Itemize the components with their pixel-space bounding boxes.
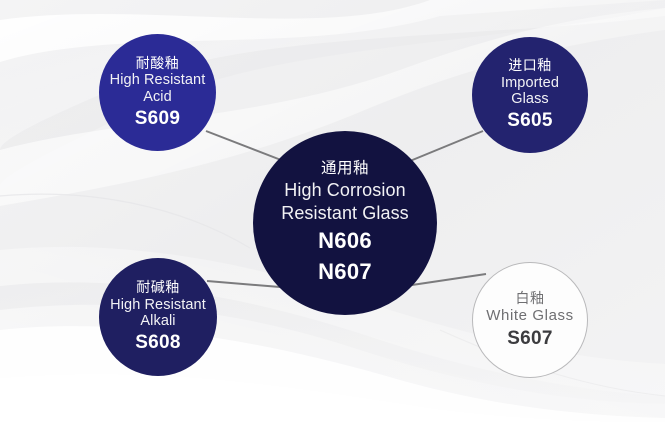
connector-center-to-acid bbox=[206, 131, 281, 160]
node-chinese-label: 耐碱釉 bbox=[136, 280, 180, 296]
node-chinese-label: 通用釉 bbox=[321, 160, 369, 177]
node-imported-glass[interactable]: 进口釉 Imported Glass S605 bbox=[472, 37, 588, 153]
connector-center-to-imported bbox=[410, 131, 483, 161]
node-english-line2: Alkali bbox=[140, 313, 175, 329]
node-chinese-label: 耐酸釉 bbox=[136, 56, 180, 72]
node-english-line2: Glass bbox=[511, 91, 549, 107]
diagram-canvas: 通用釉 High Corrosion Resistant Glass N606 … bbox=[0, 0, 665, 422]
node-chinese-label: 白釉 bbox=[516, 291, 545, 307]
node-english-line1: White Glass bbox=[486, 308, 573, 325]
node-code-line1: N606 bbox=[318, 228, 372, 255]
node-high-corrosion-resistant-glass[interactable]: 通用釉 High Corrosion Resistant Glass N606 … bbox=[253, 131, 437, 315]
node-english-line2: Resistant Glass bbox=[281, 202, 409, 225]
node-code: S605 bbox=[507, 110, 553, 131]
node-english-line1: High Resistant bbox=[110, 297, 206, 313]
connector-center-to-alkali bbox=[207, 281, 280, 287]
node-white-glass[interactable]: 白釉 White Glass S607 bbox=[472, 262, 588, 378]
connector-center-to-white bbox=[412, 274, 486, 285]
node-english-line1: Imported bbox=[501, 75, 559, 91]
node-code-line2: N607 bbox=[318, 259, 372, 286]
node-code: S609 bbox=[135, 108, 181, 129]
node-english-line1: High Corrosion bbox=[284, 179, 405, 202]
node-english-line2: Acid bbox=[143, 89, 172, 105]
node-high-resistant-acid[interactable]: 耐酸釉 High Resistant Acid S609 bbox=[99, 34, 216, 151]
node-code: S608 bbox=[135, 332, 181, 353]
node-high-resistant-alkali[interactable]: 耐碱釉 High Resistant Alkali S608 bbox=[99, 258, 217, 376]
node-english-line1: High Resistant bbox=[110, 72, 206, 88]
node-chinese-label: 进口釉 bbox=[508, 58, 552, 74]
node-code: S607 bbox=[507, 328, 553, 349]
